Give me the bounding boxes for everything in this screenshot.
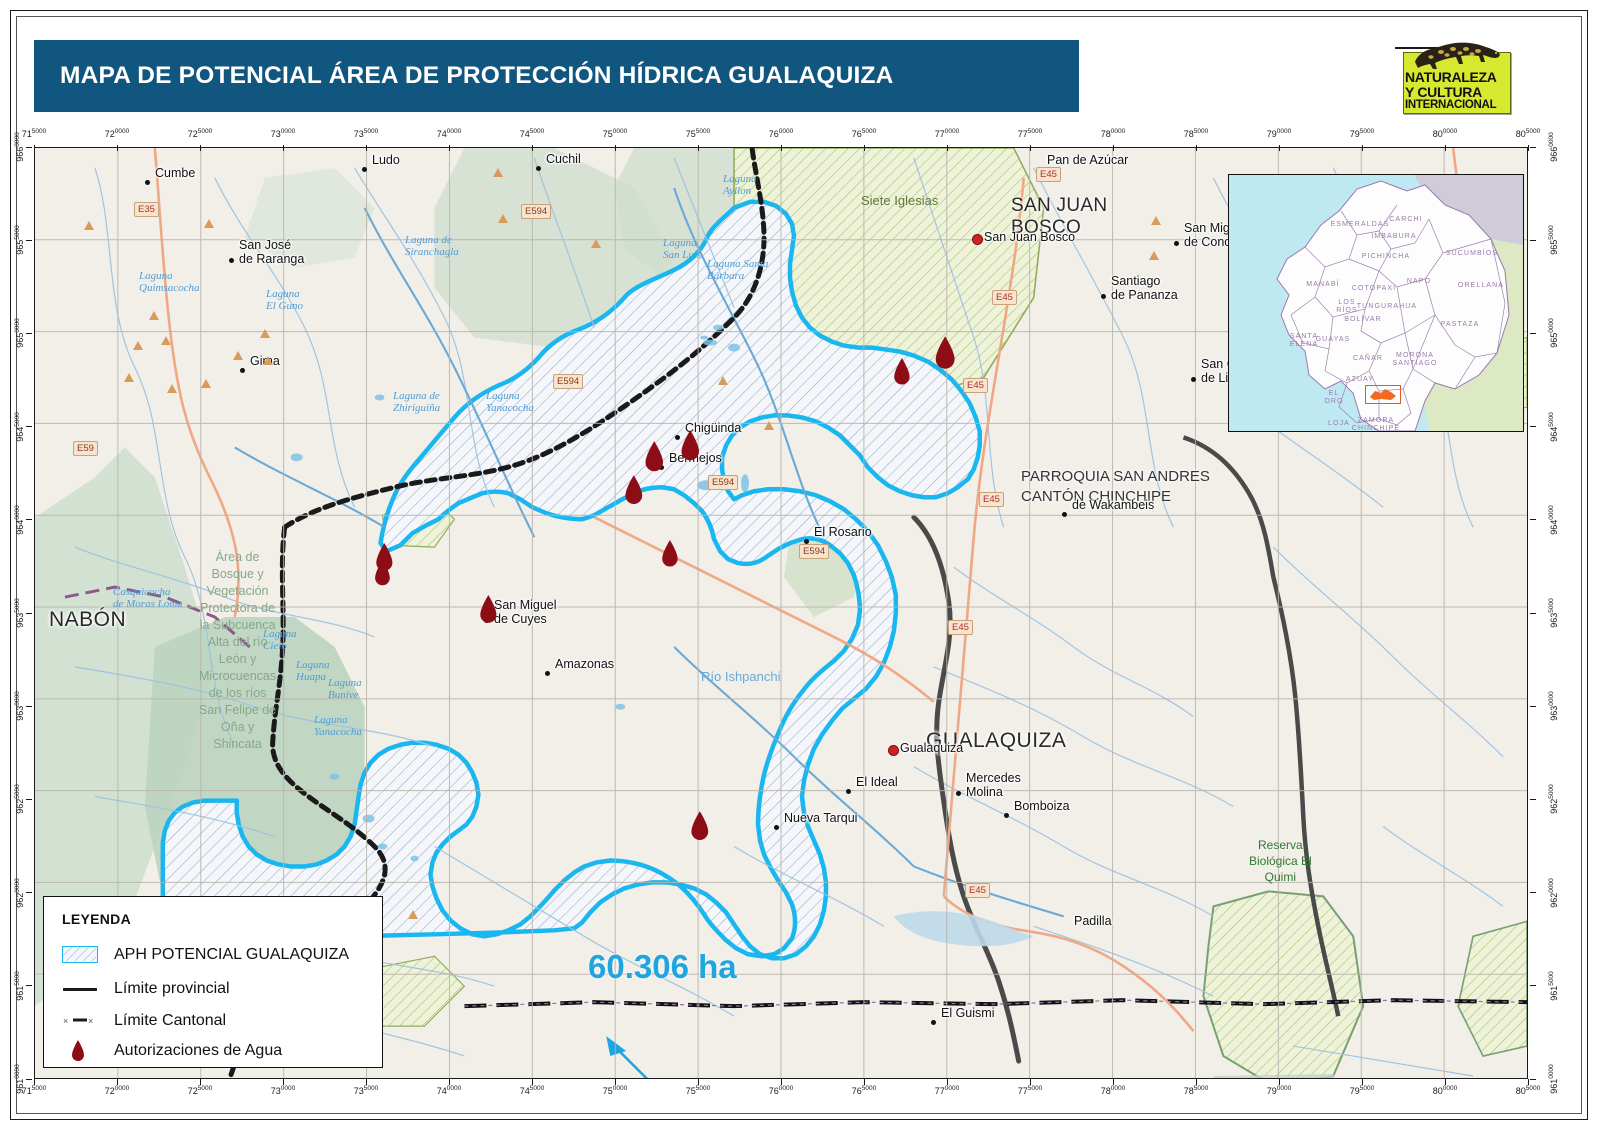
- axis-x-tick: [1445, 1079, 1446, 1085]
- water-permit-marker[interactable]: [689, 810, 711, 846]
- axis-x-tick: [1030, 145, 1031, 151]
- town-marker: [1191, 377, 1196, 382]
- axis-y-tick: [26, 892, 32, 893]
- axis-y-tick-label: 9630000: [1548, 691, 1559, 721]
- axis-y-tick: [1530, 706, 1536, 707]
- axis-x-tick: [1279, 145, 1280, 151]
- town-marker: [545, 671, 550, 676]
- axis-y-tick-label: 9655000: [14, 225, 25, 255]
- inset-province-label: CAÑAR: [1353, 355, 1383, 363]
- axis-x-tick-label: 715000: [22, 128, 46, 139]
- axis-x-tick-label: 800000: [1433, 128, 1457, 139]
- axis-x-tick-label: 780000: [1101, 1085, 1125, 1096]
- axis-x-tick-label: 770000: [935, 1085, 959, 1096]
- axis-x-tick: [117, 145, 118, 151]
- axis-y-tick: [26, 985, 32, 986]
- inset-province-label: PICHINCHA: [1362, 253, 1410, 261]
- mountain-peak-icon: [1149, 251, 1159, 260]
- axis-x-tick: [200, 1079, 201, 1085]
- lagoon-label: Laguna deSiranchagla: [405, 234, 459, 258]
- axis-x-tick-label: 795000: [1350, 1085, 1374, 1096]
- axis-y-tick: [1530, 613, 1536, 614]
- town-label: Nueva Tarqui: [784, 811, 857, 825]
- axis-x-tick-label: 765000: [852, 1085, 876, 1096]
- axis-x-tick: [698, 145, 699, 151]
- inset-province-label: COTOPAXI: [1352, 285, 1396, 293]
- axis-y-tick-label: 9650000: [14, 319, 25, 349]
- lagoon-label: LagunaYanacocha: [314, 714, 362, 738]
- axis-x-tick-label: 780000: [1101, 128, 1125, 139]
- legend-label-provincial: Límite provincial: [114, 980, 230, 998]
- axis-y-tick-label: 9610000: [14, 1064, 25, 1094]
- axis-y-tick: [26, 147, 32, 148]
- legend-item-cantonal[interactable]: × × Límite Cantonal: [62, 1007, 362, 1035]
- axis-x-tick-label: 715000: [22, 1085, 46, 1096]
- inset-province-label: ESMERALDAS: [1331, 221, 1390, 229]
- axis-y-tick: [26, 240, 32, 241]
- axis-x-tick: [449, 145, 450, 151]
- town-label: Pan de Azúcar: [1047, 153, 1128, 167]
- axis-y-tick-label: 9635000: [1548, 598, 1559, 628]
- axis-x-tick-label: 745000: [520, 1085, 544, 1096]
- axis-x-tick: [283, 1079, 284, 1085]
- lagoon-label: LagunaBunive: [328, 677, 362, 701]
- legend-item-aph[interactable]: APH POTENCIAL GUALAQUIZA: [62, 941, 362, 969]
- inset-province-label: ZAMORACHINCHIPE: [1352, 417, 1400, 432]
- town-marker: [846, 789, 851, 794]
- axis-y-tick: [1530, 333, 1536, 334]
- town-label: Bomboiza: [1014, 799, 1070, 813]
- lagoon-label: LagunaQuimsacocha: [139, 270, 200, 294]
- title-bar: MAPA DE POTENCIAL ÁREA DE PROTECCIÓN HÍD…: [34, 40, 1079, 112]
- axis-x-tick-label: 740000: [437, 128, 461, 139]
- water-permit-marker[interactable]: [660, 539, 680, 573]
- inset-province-label: SANTAELENA: [1290, 333, 1318, 349]
- water-permit-marker[interactable]: [643, 440, 666, 478]
- axis-x-tick: [532, 1079, 533, 1085]
- water-permit-marker[interactable]: [892, 357, 912, 391]
- svg-text:×: ×: [63, 1016, 68, 1026]
- water-permit-marker[interactable]: [373, 559, 392, 591]
- inset-province-label: SUCUMBÍOS: [1446, 250, 1498, 258]
- highway-shield[interactable]: E45: [1036, 167, 1061, 182]
- inset-province-label: NAPO: [1407, 278, 1431, 286]
- svg-text:×: ×: [88, 1016, 93, 1026]
- axis-x-tick-label: 735000: [354, 1085, 378, 1096]
- town-marker: [774, 825, 779, 830]
- inset-province-label: MORONASANTIAGO: [1393, 352, 1438, 368]
- town-marker: [1101, 294, 1106, 299]
- axis-x-tick-label: 725000: [188, 1085, 212, 1096]
- area-callout: 60.306 ha: [588, 948, 737, 986]
- mountain-peak-icon: [149, 311, 159, 320]
- organization-logo: NATURALEZA Y CULTURA INTERNACIONAL: [1397, 38, 1513, 116]
- inset-province-label: LOSRÍOS: [1336, 299, 1358, 315]
- axis-x-tick: [698, 1079, 699, 1085]
- axis-y-tick-label: 9635000: [14, 598, 25, 628]
- mountain-peak-icon: [591, 239, 601, 248]
- inset-province-label: GUAYAS: [1316, 336, 1351, 344]
- town-marker: [972, 234, 983, 245]
- axis-x-tick-label: 790000: [1267, 128, 1291, 139]
- mountain-peak-icon: [124, 373, 134, 382]
- town-label: Cumbe: [155, 166, 195, 180]
- axis-y-tick: [1530, 519, 1536, 520]
- logo-line-2: Y CULTURA: [1405, 84, 1509, 100]
- highway-shield[interactable]: E59: [73, 441, 98, 456]
- axis-y-tick-label: 9660000: [1548, 132, 1559, 162]
- axis-y-tick-label: 9650000: [1548, 319, 1559, 349]
- mountain-peak-icon: [167, 384, 177, 393]
- logo-line-1: NATURALEZA: [1405, 69, 1509, 85]
- mountain-peak-icon: [260, 329, 270, 338]
- town-label: El Guismi: [941, 1006, 994, 1020]
- axis-x-tick-label: 740000: [437, 1085, 461, 1096]
- axis-y-tick: [26, 333, 32, 334]
- axis-x-tick-label: 750000: [603, 128, 627, 139]
- town-marker: [1004, 813, 1009, 818]
- axis-y-tick-label: 9620000: [1548, 878, 1559, 908]
- city-label: NABÓN: [49, 608, 126, 632]
- lagoon-label: LagunaSan Luis: [663, 237, 701, 261]
- axis-x-tick: [947, 1079, 948, 1085]
- mountain-peak-icon: [201, 379, 211, 388]
- axis-y-tick: [26, 519, 32, 520]
- logo-line-3: INTERNACIONAL: [1405, 99, 1509, 111]
- axis-x-tick: [1196, 1079, 1197, 1085]
- axis-x-tick-label: 730000: [271, 128, 295, 139]
- legend-item-provincial[interactable]: Límite provincial: [62, 975, 362, 1003]
- town-label: San Miguelde Cuyes: [494, 598, 557, 626]
- page-title: MAPA DE POTENCIAL ÁREA DE PROTECCIÓN HÍD…: [60, 62, 894, 90]
- inset-province-label: PASTAZA: [1441, 321, 1480, 329]
- axis-x-tick: [200, 145, 201, 151]
- inset-study-area-shape: [1367, 387, 1399, 402]
- town-label: El Rosario: [814, 525, 872, 539]
- axis-x-tick-label: 725000: [188, 128, 212, 139]
- inset-province-label: MANABÍ: [1306, 281, 1339, 289]
- axis-x-tick-label: 795000: [1350, 128, 1374, 139]
- lagoon-label: LagunaYanacocha: [486, 390, 534, 414]
- highway-shield[interactable]: E45: [965, 883, 990, 898]
- river-label: Río Ishpanchi: [701, 669, 781, 684]
- town-label: Amazonas: [555, 657, 614, 671]
- axis-x-tick: [781, 145, 782, 151]
- axis-x-tick: [366, 145, 367, 151]
- mountain-peak-icon: [764, 421, 774, 430]
- mountain-peak-icon: [718, 376, 728, 385]
- inset-province-label: ELORO: [1324, 390, 1343, 406]
- axis-x-tick: [1362, 1079, 1363, 1085]
- axis-y-tick: [26, 426, 32, 427]
- dash-cross-line-swatch: × ×: [62, 1013, 98, 1027]
- axis-y-right: 9660000965500096500009645000964000096350…: [1530, 147, 1558, 1079]
- inset-province-label: ORELLANA: [1458, 282, 1504, 290]
- axis-y-tick-label: 9625000: [1548, 785, 1559, 815]
- legend-item-water-permits[interactable]: Autorizaciones de Agua: [62, 1037, 362, 1065]
- axis-y-tick-label: 9655000: [1548, 225, 1559, 255]
- axis-y-tick: [26, 799, 32, 800]
- town-label: Ludo: [372, 153, 400, 167]
- axis-x-tick-label: 785000: [1184, 128, 1208, 139]
- axis-y-tick-label: 9610000: [1548, 1064, 1559, 1094]
- inset-province-label: IMBABURA: [1371, 233, 1416, 241]
- mountain-peak-icon: [233, 351, 243, 360]
- inset-province-label: LOJA: [1328, 420, 1350, 428]
- town-marker: [1174, 241, 1179, 246]
- map-poster: MAPA DE POTENCIAL ÁREA DE PROTECCIÓN HÍD…: [0, 0, 1600, 1131]
- axis-x-tick-label: 760000: [769, 1085, 793, 1096]
- mountain-peak-icon: [493, 168, 503, 177]
- town-label: Cuchil: [546, 152, 581, 166]
- axis-x-tick-label: 805000: [1516, 1085, 1540, 1096]
- axis-x-tick-label: 775000: [1018, 1085, 1042, 1096]
- highway-shield[interactable]: E594: [521, 204, 551, 219]
- axis-y-tick: [26, 706, 32, 707]
- town-label: Padilla: [1074, 914, 1112, 928]
- inset-province-label: BOLÍVAR: [1344, 316, 1382, 324]
- water-permit-marker[interactable]: [478, 594, 499, 629]
- axis-y-tick: [1530, 799, 1536, 800]
- water-drop-icon: [70, 1039, 86, 1068]
- axis-y-tick-label: 9615000: [1548, 971, 1559, 1001]
- axis-y-tick: [1530, 985, 1536, 986]
- town-marker: [145, 180, 150, 185]
- mountain-peak-icon: [263, 356, 273, 365]
- axis-x-tick: [1196, 145, 1197, 151]
- lagoon-label: LagunaEl Guno: [266, 288, 303, 312]
- axis-x-bottom: 7150007200007250007300007350007400007450…: [34, 1085, 1528, 1103]
- axis-x-tick-label: 765000: [852, 128, 876, 139]
- axis-x-tick: [615, 145, 616, 151]
- mountain-peak-icon: [1151, 216, 1161, 225]
- axis-x-tick: [1279, 1079, 1280, 1085]
- mountain-peak-icon: [498, 214, 508, 223]
- axis-x-tick: [1030, 1079, 1031, 1085]
- legend-panel: LEYENDA APH POTENCIAL GUALAQUIZA Límite …: [43, 896, 383, 1068]
- axis-y-tick-label: 9620000: [14, 878, 25, 908]
- axis-y-tick: [1530, 426, 1536, 427]
- axis-y-tick-label: 9660000: [14, 132, 25, 162]
- axis-x-tick: [283, 145, 284, 151]
- hatched-polygon-swatch: [62, 946, 98, 963]
- axis-x-tick: [34, 1079, 35, 1085]
- axis-y-tick-label: 9645000: [1548, 412, 1559, 442]
- lagoon-label: Laguna deZhiriguiña: [393, 390, 440, 414]
- axis-x-tick-label: 720000: [105, 1085, 129, 1096]
- water-permit-marker[interactable]: [933, 335, 957, 375]
- highway-shield[interactable]: E594: [553, 374, 583, 389]
- axis-x-tick-label: 785000: [1184, 1085, 1208, 1096]
- axis-x-tick: [615, 1079, 616, 1085]
- axis-x-tick-label: 755000: [686, 1085, 710, 1096]
- axis-y-tick: [26, 613, 32, 614]
- town-label: Santiagode Pananza: [1111, 274, 1178, 302]
- axis-x-tick-label: 760000: [769, 128, 793, 139]
- inset-province-label: AZUAY: [1346, 376, 1374, 384]
- axis-y-tick: [1530, 892, 1536, 893]
- lagoon-label: Casquicochade Moras Loma: [113, 586, 183, 610]
- town-label: El Ideal: [856, 775, 898, 789]
- axis-y-tick: [26, 1079, 32, 1080]
- mountain-peak-icon: [84, 221, 94, 230]
- axis-x-tick: [1113, 145, 1114, 151]
- axis-x-tick: [1445, 145, 1446, 151]
- highway-shield[interactable]: E45: [992, 290, 1017, 305]
- highway-shield[interactable]: E594: [708, 475, 738, 490]
- town-label: de Wakambeis: [1072, 498, 1154, 512]
- axis-x-tick: [449, 1079, 450, 1085]
- jaguar-icon: [1411, 38, 1503, 72]
- town-label: MercedesMolina: [966, 771, 1021, 799]
- axis-x-tick: [947, 145, 948, 151]
- solid-line-swatch: [63, 988, 97, 991]
- highway-shield[interactable]: E45: [979, 492, 1004, 507]
- axis-x-tick-label: 790000: [1267, 1085, 1291, 1096]
- axis-x-tick-label: 745000: [520, 128, 544, 139]
- legend-label-water-permits: Autorizaciones de Agua: [114, 1042, 282, 1060]
- lagoon-label: Laguna SantaBárbara: [707, 258, 768, 282]
- highway-shield[interactable]: E35: [134, 202, 159, 217]
- axis-x-tick: [1113, 1079, 1114, 1085]
- town-marker: [956, 791, 961, 796]
- mountain-peak-icon: [204, 219, 214, 228]
- mountain-peak-icon: [133, 341, 143, 350]
- axis-x-top: 7150007200007250007300007350007400007450…: [34, 128, 1528, 146]
- highway-shield[interactable]: E45: [948, 620, 973, 635]
- axis-y-tick-label: 9615000: [14, 971, 25, 1001]
- axis-x-tick-label: 730000: [271, 1085, 295, 1096]
- town-label: San Joséde Raranga: [239, 238, 304, 266]
- axis-x-tick: [532, 145, 533, 151]
- town-marker: [362, 167, 367, 172]
- axis-y-tick: [1530, 240, 1536, 241]
- highway-shield[interactable]: E45: [963, 378, 988, 393]
- axis-x-tick-label: 800000: [1433, 1085, 1457, 1096]
- town-marker: [229, 258, 234, 263]
- town-marker: [888, 745, 899, 756]
- lagoon-label: LagunaHuapa: [296, 659, 330, 683]
- legend-title: LEYENDA: [62, 911, 131, 927]
- legend-label-cantonal: Límite Cantonal: [114, 1012, 226, 1030]
- axis-y-tick: [1530, 147, 1536, 148]
- axis-x-tick-label: 775000: [1018, 128, 1042, 139]
- axis-x-tick-label: 755000: [686, 128, 710, 139]
- protected-area-label: Siete Iglesias: [861, 193, 938, 209]
- town-marker: [240, 368, 245, 373]
- axis-x-tick-label: 750000: [603, 1085, 627, 1096]
- protective-forest-label: Área deBosque yVegetaciónProtectora dela…: [199, 549, 276, 753]
- town-label: San Juan Bosco: [984, 230, 1075, 244]
- inset-province-label: TUNGURAHUA: [1357, 303, 1417, 311]
- axis-y-left: 9660000965500096500009645000964000096350…: [6, 147, 34, 1079]
- locator-inset-map[interactable]: ESMERALDASCARCHIIMBABURAPICHINCHASUCUMBÍ…: [1228, 174, 1524, 432]
- protected-area-label: ReservaBiológica ElQuimi: [1249, 837, 1312, 885]
- water-permit-marker[interactable]: [623, 474, 645, 510]
- axis-y-tick-label: 9625000: [14, 785, 25, 815]
- town-label: Gualaquiza: [900, 741, 963, 755]
- legend-label-aph: APH POTENCIAL GUALAQUIZA: [114, 946, 349, 964]
- axis-y-tick: [1530, 1079, 1536, 1080]
- axis-x-tick-label: 735000: [354, 128, 378, 139]
- axis-x-tick: [1528, 145, 1529, 151]
- lagoon-label: LagunaAyllon: [723, 173, 757, 197]
- axis-y-tick-label: 9630000: [14, 691, 25, 721]
- axis-x-tick: [781, 1079, 782, 1085]
- water-permit-marker[interactable]: [679, 429, 702, 467]
- axis-x-tick-label: 805000: [1516, 128, 1540, 139]
- highway-shield[interactable]: E594: [799, 544, 829, 559]
- inset-province-label: CARCHI: [1389, 216, 1422, 224]
- axis-x-tick-label: 720000: [105, 128, 129, 139]
- axis-x-tick: [864, 145, 865, 151]
- axis-x-tick: [366, 1079, 367, 1085]
- axis-x-tick: [1362, 145, 1363, 151]
- mountain-peak-icon: [408, 910, 418, 919]
- axis-y-tick-label: 9640000: [1548, 505, 1559, 535]
- axis-x-tick: [1528, 1079, 1529, 1085]
- axis-y-tick-label: 9645000: [14, 412, 25, 442]
- town-marker: [931, 1020, 936, 1025]
- mountain-peak-icon: [161, 336, 171, 345]
- town-marker: [536, 166, 541, 171]
- town-marker: [1062, 512, 1067, 517]
- axis-x-tick: [864, 1079, 865, 1085]
- axis-x-tick: [117, 1079, 118, 1085]
- axis-y-tick-label: 9640000: [14, 505, 25, 535]
- axis-x-tick-label: 770000: [935, 128, 959, 139]
